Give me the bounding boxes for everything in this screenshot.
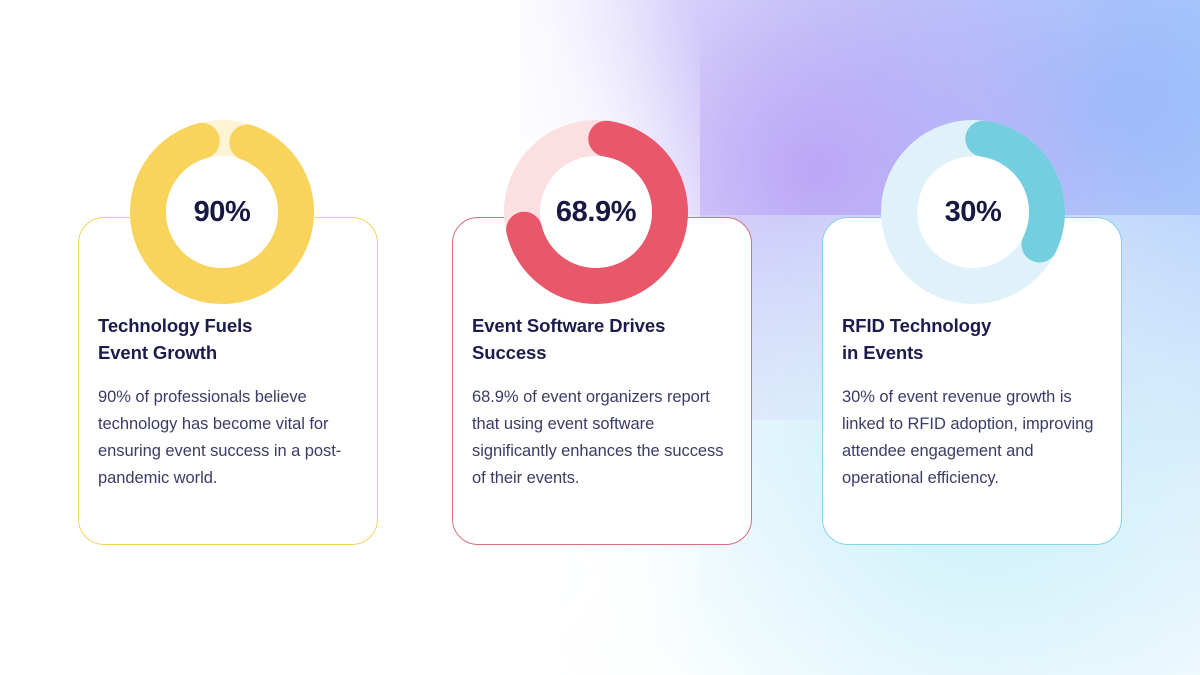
donut-chart: 90% (128, 118, 316, 306)
stat-card-description: 30% of event revenue growth is linked to… (842, 384, 1101, 492)
stat-card-description: 90% of professionals believe technology … (98, 384, 357, 492)
stat-card-title: Technology Fuels Event Growth (98, 312, 357, 366)
donut-chart: 30% (879, 118, 1067, 306)
donut-chart: 68.9% (502, 118, 690, 306)
donut-percent-label: 90% (128, 118, 316, 306)
stat-card-title: Event Software Drives Success (472, 312, 731, 366)
stat-card-title: RFID Technology in Events (842, 312, 1101, 366)
infographic-canvas: Technology Fuels Event Growth 90% of pro… (0, 0, 1200, 675)
stat-card-description: 68.9% of event organizers report that us… (472, 384, 731, 492)
donut-percent-label: 30% (879, 118, 1067, 306)
donut-percent-label: 68.9% (502, 118, 690, 306)
stat-card-row: Technology Fuels Event Growth 90% of pro… (0, 0, 1200, 675)
